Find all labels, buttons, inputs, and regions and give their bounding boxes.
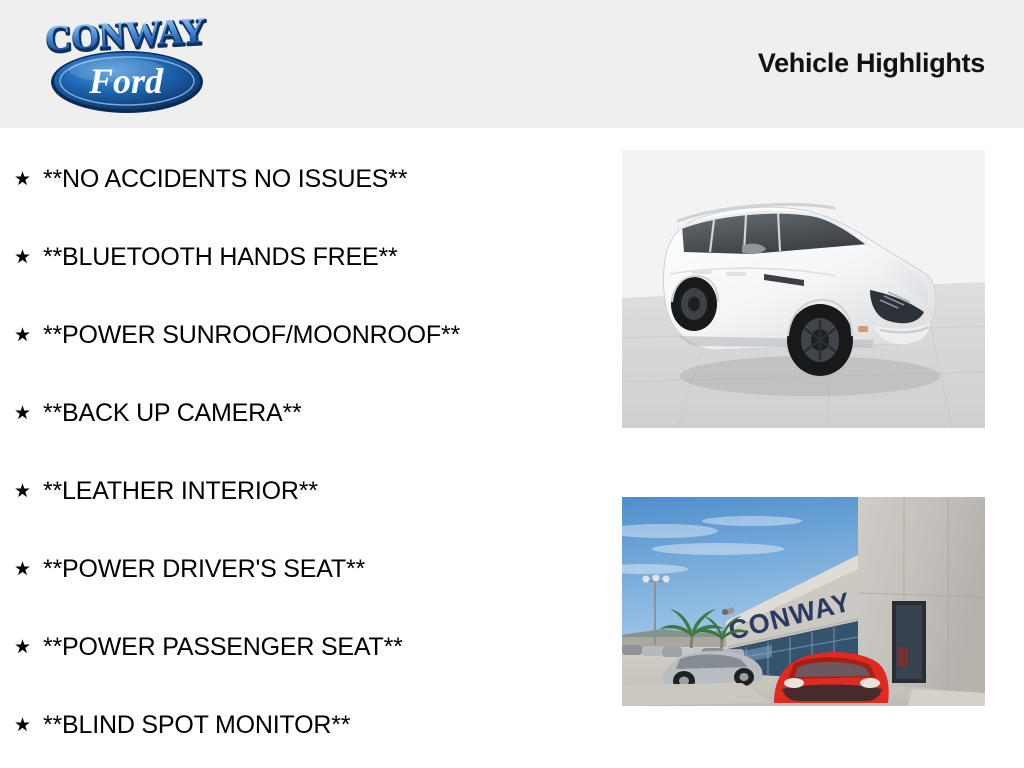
dealership-photo-graphic: CONWAY [622, 497, 985, 706]
star-icon: ★ [14, 248, 43, 267]
svg-text:Ford: Ford [88, 61, 164, 101]
star-icon: ★ [14, 638, 43, 657]
feature-label: **BACK UP CAMERA** [43, 401, 302, 426]
star-icon: ★ [14, 170, 43, 189]
page-title: Vehicle Highlights [758, 48, 985, 79]
page-header: CONWAY CONWAY Ford Vehicle Highlights [0, 0, 1024, 128]
feature-label: **BLUETOOTH HANDS FREE** [43, 245, 398, 270]
list-item: ★ **POWER DRIVER'S SEAT** [0, 530, 600, 608]
feature-label: **POWER PASSENGER SEAT** [43, 635, 403, 660]
list-item: ★ **LEATHER INTERIOR** [0, 452, 600, 530]
vehicle-highlights-list: ★ **NO ACCIDENTS NO ISSUES** ★ **BLUETOO… [0, 140, 600, 764]
star-icon: ★ [14, 404, 43, 423]
front-wheel [787, 304, 853, 376]
star-icon: ★ [14, 482, 43, 501]
star-icon: ★ [14, 716, 43, 735]
feature-label: **BLIND SPOT MONITOR** [43, 713, 350, 738]
feature-label: **NO ACCIDENTS NO ISSUES** [43, 167, 407, 192]
feature-label: **POWER DRIVER'S SEAT** [43, 557, 365, 582]
svg-text:CONWAY: CONWAY [44, 10, 207, 58]
list-item: ★ **POWER SUNROOF/MOONROOF** [0, 296, 600, 374]
list-item: ★ **BLUETOOTH HANDS FREE** [0, 218, 600, 296]
feature-label: **LEATHER INTERIOR** [43, 479, 318, 504]
conway-ford-logo-graphic: CONWAY CONWAY Ford [22, 8, 232, 120]
list-item: ★ **POWER PASSENGER SEAT** [0, 608, 600, 686]
list-item: ★ **BLIND SPOT MONITOR** [0, 686, 600, 764]
feature-label: **POWER SUNROOF/MOONROOF** [43, 323, 460, 348]
star-icon: ★ [14, 326, 43, 345]
star-icon: ★ [14, 560, 43, 579]
dealership-photo[interactable]: CONWAY [622, 497, 985, 706]
vehicle-photo-graphic [622, 150, 985, 428]
list-item: ★ **BACK UP CAMERA** [0, 374, 600, 452]
vehicle-photo[interactable] [622, 150, 985, 428]
logo-ford-oval: Ford [51, 51, 203, 113]
list-item: ★ **NO ACCIDENTS NO ISSUES** [0, 140, 600, 218]
conway-ford-logo[interactable]: CONWAY CONWAY Ford [22, 8, 232, 120]
